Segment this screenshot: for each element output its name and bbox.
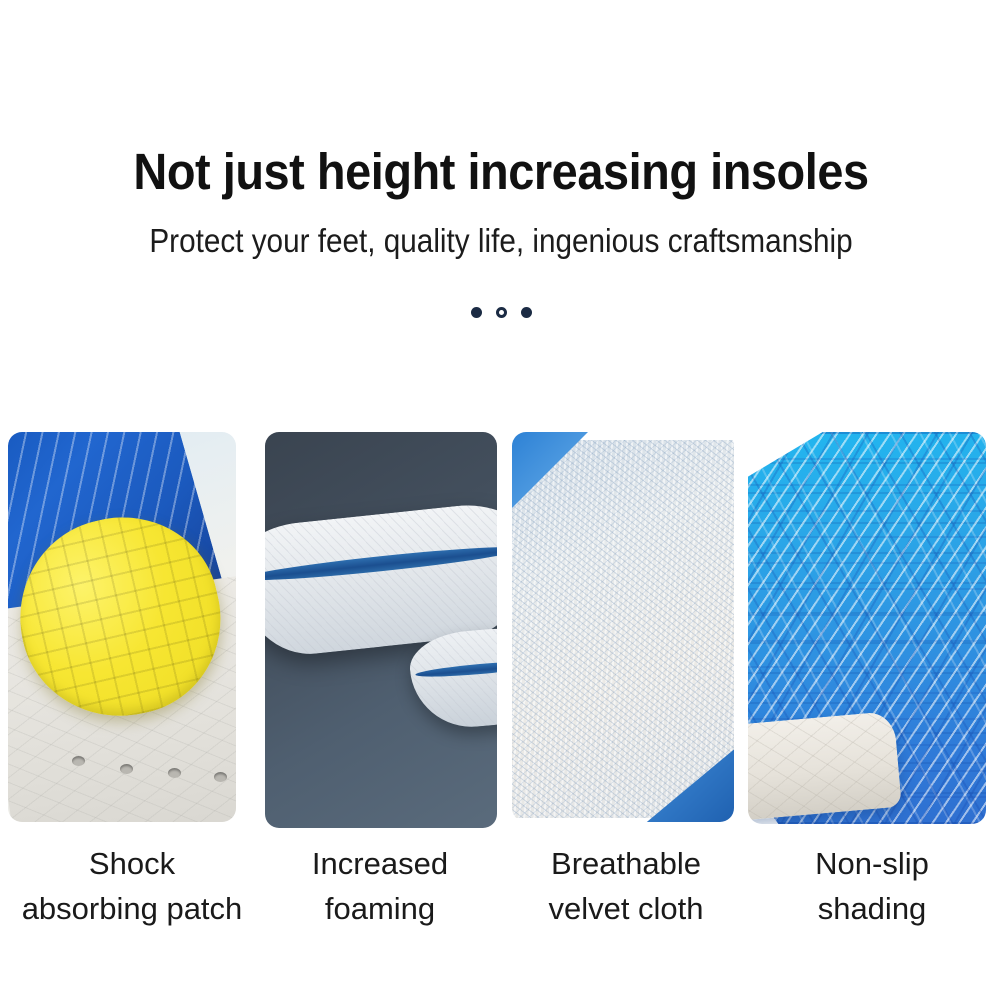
carousel-dot-3-icon[interactable] xyxy=(521,307,532,318)
carousel-dot-2-icon[interactable] xyxy=(496,307,507,318)
feature-captions: Shock absorbing patch Increased foaming … xyxy=(0,842,1002,952)
page-title: Not just height increasing insoles xyxy=(40,0,962,200)
panel-3-inner xyxy=(512,432,734,822)
foam-vent-hole xyxy=(120,764,133,774)
feature-image-shock-absorbing-patch xyxy=(8,432,236,822)
foam-vent-hole xyxy=(168,768,181,778)
panel-4-inner xyxy=(748,432,986,824)
feature-caption-non-slip-shading: Non-slip shading xyxy=(752,842,992,932)
feature-image-breathable-velvet-cloth xyxy=(512,432,734,822)
feature-image-non-slip-shading xyxy=(748,432,986,824)
header: Not just height increasing insoles Prote… xyxy=(0,0,1002,260)
velvet-cloth-texture xyxy=(512,440,734,818)
white-foam-block xyxy=(748,711,902,821)
carousel-dot-1-icon[interactable] xyxy=(471,307,482,318)
page-subtitle: Protect your feet, quality life, ingenio… xyxy=(50,200,952,260)
feature-caption-shock-absorbing-patch: Shock absorbing patch xyxy=(0,842,264,932)
feature-caption-breathable-velvet-cloth: Breathable velvet cloth xyxy=(503,842,749,932)
feature-image-increased-foaming xyxy=(265,432,497,828)
foam-vent-hole xyxy=(214,772,227,782)
feature-image-strip xyxy=(0,432,1002,832)
feature-caption-increased-foaming: Increased foaming xyxy=(258,842,502,932)
panel-2-inner xyxy=(265,432,497,828)
foam-vent-hole xyxy=(72,756,85,766)
product-feature-page: Not just height increasing insoles Prote… xyxy=(0,0,1002,1002)
carousel-dots xyxy=(0,307,1002,318)
panel-1-inner xyxy=(8,432,236,822)
